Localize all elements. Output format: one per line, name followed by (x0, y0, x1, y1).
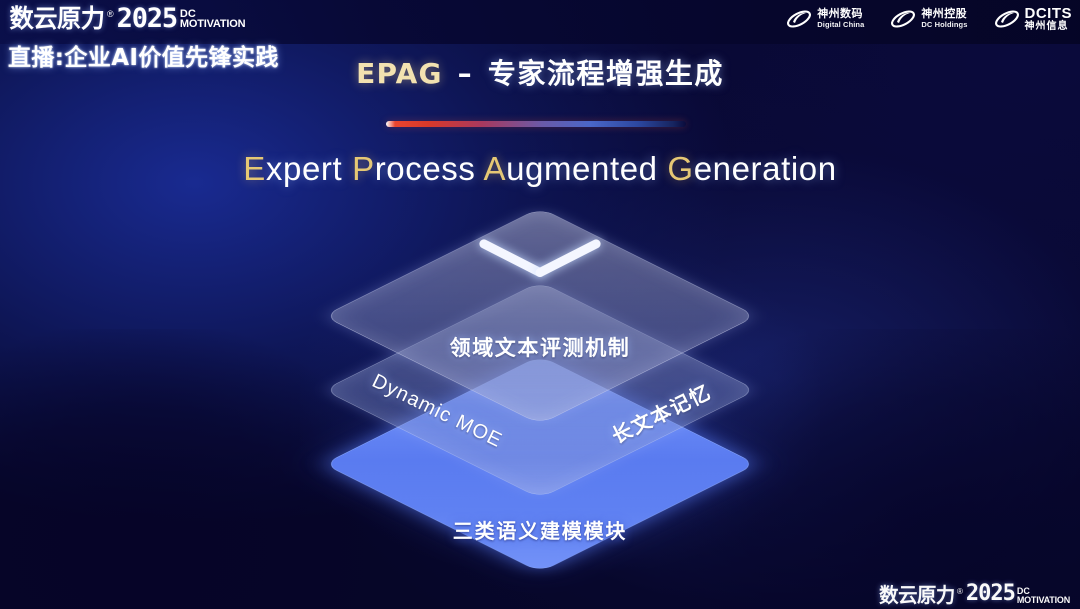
slide-subtitle: Expert Process Augmented Generation (0, 150, 1080, 188)
partner-name-en: DCITS (1025, 6, 1073, 22)
subtitle-word-process: Process (352, 150, 475, 187)
subtitle-cap-g: G (667, 150, 693, 187)
partner-logo-digital-china: 神州数码 Digital China (786, 7, 864, 31)
subtitle-cap-a: A (483, 150, 506, 187)
diagram-label-bottom: 三类语义建模模块 (0, 515, 1080, 544)
chevron-up-icon (476, 262, 604, 310)
title-gradient-rule (386, 121, 686, 127)
subtitle-rest-expert: xpert (266, 150, 342, 187)
subtitle-rest-generation: eneration (694, 150, 837, 187)
watermark-registered-mark: ® (957, 587, 963, 596)
brand-block: 数云原力 ® 2025 DC MOTIVATION 直播:企业AI价值先锋实践 (8, 4, 279, 72)
title-acronym: EPAG (356, 57, 443, 90)
watermark-logo: 数云原力 ® 2025 DC MOTIVATION (878, 583, 1070, 605)
subtitle-word-augmented: Augmented (483, 150, 657, 187)
brand-logo: 数云原力 ® 2025 DC MOTIVATION (8, 4, 279, 31)
partner-logo-row: 神州数码 Digital China 神州控股 DC Holdings DCIT… (786, 6, 1072, 32)
brand-dc-motivation: DC MOTIVATION (180, 9, 245, 29)
partner-logo-dcits: DCITS 神州信息 (994, 6, 1073, 32)
watermark-dc-motivation: DC MOTIVATION (1017, 587, 1070, 604)
watermark-name-cn: 数云原力 (879, 585, 955, 605)
subtitle-word-expert: Expert (243, 150, 342, 187)
swirl-logo-icon (994, 7, 1020, 31)
subtitle-cap-e: E (243, 150, 266, 187)
partner-name-en: Digital China (817, 21, 864, 29)
subtitle-rest-augmented: ugmented (506, 150, 658, 187)
brand-year: 2025 (117, 5, 177, 32)
watermark-motivation-text: MOTIVATION (1017, 596, 1070, 604)
brand-motivation-text: MOTIVATION (180, 19, 245, 29)
partner-name-cn: 神州信息 (1025, 22, 1073, 33)
brand-name-cn: 数云原力 (9, 6, 104, 31)
title-chinese: 专家流程增强生成 (488, 57, 724, 90)
diagram-label-top: 领域文本评测机制 (0, 332, 1080, 362)
partner-label-group: DCITS 神州信息 (1025, 6, 1073, 32)
subtitle-rest-process: rocess (375, 150, 476, 187)
title-dash: – (454, 57, 477, 90)
brand-registered-mark: ® (107, 10, 114, 19)
partner-label-group: 神州数码 Digital China (817, 9, 864, 28)
swirl-logo-icon (786, 7, 812, 31)
partner-label-group: 神州控股 DC Holdings (921, 9, 967, 28)
slide-canvas: 数云原力 ® 2025 DC MOTIVATION 直播:企业AI价值先锋实践 … (0, 0, 1080, 609)
partner-name-en: DC Holdings (921, 21, 967, 29)
subtitle-word-generation: Generation (667, 150, 836, 187)
watermark-year: 2025 (966, 583, 1015, 605)
subtitle-cap-p: P (352, 150, 375, 187)
partner-logo-dc-holdings: 神州控股 DC Holdings (890, 7, 967, 31)
swirl-logo-icon (890, 7, 916, 31)
broadcast-subtitle: 直播:企业AI价值先锋实践 (8, 38, 279, 72)
